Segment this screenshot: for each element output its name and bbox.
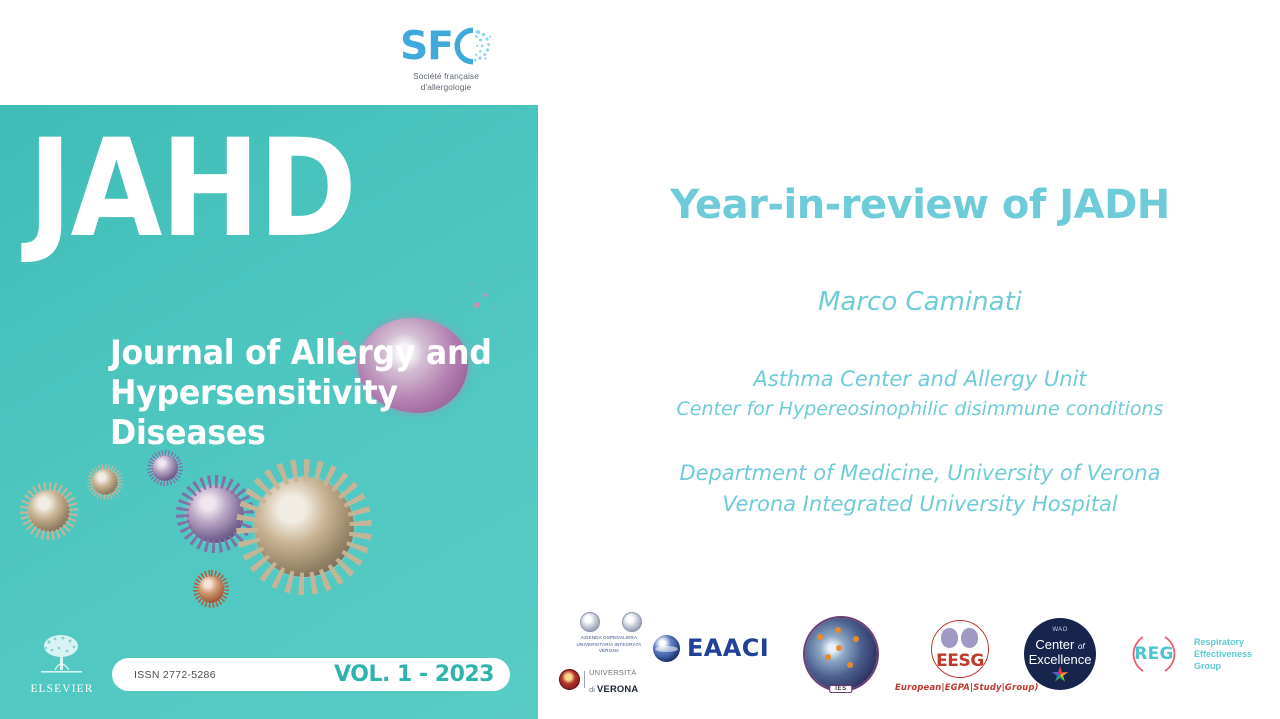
allergen-particle-icon — [254, 477, 354, 577]
sfa-logo-subtitle: Société française d'allergologie — [386, 71, 506, 92]
eesg-cell-icon — [961, 628, 978, 648]
univr-line1: UNIVERSITÀ — [589, 668, 637, 677]
journal-cover-image: JAHD Journal of Allergy and Hypersensiti… — [0, 105, 538, 719]
issn-text: ISSN 2772-5286 — [134, 669, 216, 681]
allergen-particle-icon — [152, 455, 178, 481]
aoui-crest-icon — [580, 612, 600, 632]
affiliation-secondary: Department of Medicine, University of Ve… — [560, 458, 1280, 520]
reg-caption-line2: Effectiveness — [1194, 648, 1252, 660]
journal-full-title: Journal of Allergy and Hypersensitivity … — [110, 333, 501, 453]
logo-eesg: EESG European|EGPA|Study|Group) — [895, 620, 1025, 692]
reg-bracket-icon: REG — [1123, 634, 1185, 674]
sfa-letters: SF — [400, 27, 453, 66]
logo-aoui-verona: AZIENDA OSPEDALIERA UNIVERSITARIA INTEGR… — [555, 612, 663, 697]
elsevier-wordmark: ELSEVIER — [30, 683, 94, 695]
aoui-label-line2: UNIVERSITARIA INTEGRATA — [555, 642, 663, 649]
divider — [584, 671, 585, 688]
journal-title-line1: Journal of Allergy and — [110, 333, 501, 373]
eesg-emblem-icon: EESG — [931, 620, 989, 678]
ies-granule-icon — [836, 645, 842, 651]
ies-granule-icon — [847, 662, 853, 668]
allergen-particle-icon — [198, 575, 224, 603]
presentation-title: Year-in-review of JADH — [560, 182, 1280, 228]
ies-eosinophil-icon: IES — [805, 618, 877, 690]
allergen-particle-icon — [186, 485, 244, 543]
speaker-name: Marco Caminati — [560, 287, 1280, 317]
aoui-label-line1: AZIENDA OSPEDALIERA — [555, 635, 663, 642]
wao-disc-icon: WAO Center of Excellence — [1024, 618, 1096, 690]
aoui-crest-icons — [555, 612, 663, 632]
aoui-label: AZIENDA OSPEDALIERA UNIVERSITARIA INTEGR… — [555, 635, 663, 655]
sfa-logo-mark: SF — [386, 24, 506, 68]
ies-wordmark: IES — [829, 685, 852, 693]
logo-reg: REG Respiratory Effectiveness Group — [1123, 634, 1280, 674]
elsevier-logo: ELSEVIER — [30, 632, 94, 695]
reg-caption-line1: Respiratory — [1194, 636, 1252, 648]
partner-logo-strip: AZIENDA OSPEDALIERA UNIVERSITARIA INTEGR… — [555, 612, 1280, 712]
univr-wordmark: UNIVERSITÀ di VERONA — [589, 662, 638, 697]
aoui-label-line3: VERONA — [555, 648, 663, 655]
logo-ies: IES — [795, 618, 887, 690]
reg-caption-line3: Group — [1194, 660, 1252, 672]
univr-line2-small: di — [589, 685, 595, 694]
eaaci-globe-icon — [653, 635, 680, 662]
logo-wao-center-of-excellence: WAO Center of Excellence — [1010, 618, 1110, 690]
ies-granule-icon — [853, 636, 859, 642]
journal-abbrev-title: JAHD — [28, 127, 380, 251]
logo-eaaci: EAACI — [653, 634, 788, 662]
affiliation-line: Center for Hypereosinophilic disimmune c… — [560, 395, 1280, 423]
sfa-subtitle-line1: Société française — [386, 71, 506, 82]
journal-title-line2: Hypersensitivity Diseases — [110, 373, 501, 453]
eesg-cell-icons — [941, 628, 978, 648]
allergen-particle-icon — [28, 490, 70, 532]
wao-star-icon — [1052, 666, 1069, 683]
sfa-subtitle-line2: d'allergologie — [386, 82, 506, 93]
issn-volume-pill: ISSN 2772-5286 VOL. 1 - 2023 — [112, 658, 510, 691]
ies-granule-icon — [817, 634, 823, 640]
eesg-caption: European|EGPA|Study|Group) — [895, 682, 1025, 692]
affiliation-line: Verona Integrated University Hospital — [560, 489, 1280, 520]
affiliation-line: Department of Medicine, University of Ve… — [560, 458, 1280, 489]
sfa-society-logo: SF Société fran — [386, 24, 506, 96]
eaaci-wordmark: EAACI — [687, 634, 769, 662]
affiliation-line: Asthma Center and Allergy Unit — [560, 364, 1280, 395]
univr-line2-bold: VERONA — [597, 683, 638, 694]
wao-line2: Excellence — [1024, 652, 1096, 667]
aoui-crest-icon — [622, 612, 642, 632]
eesg-cell-icon — [941, 628, 958, 648]
logo-universita-verona: UNIVERSITÀ di VERONA — [555, 662, 663, 697]
univr-seal-icon — [559, 669, 580, 690]
reg-caption: Respiratory Effectiveness Group — [1194, 636, 1252, 672]
volume-text: VOL. 1 - 2023 — [334, 662, 494, 687]
ies-granule-icon — [825, 654, 831, 660]
affiliation-primary: Asthma Center and Allergy Unit Center fo… — [560, 364, 1280, 423]
wao-top-label: WAO — [1024, 627, 1096, 633]
wao-line1: Center of — [1024, 637, 1096, 652]
sfa-dot-circle-icon — [454, 27, 492, 65]
elsevier-tree-icon — [35, 632, 89, 676]
eesg-wordmark: EESG — [932, 651, 988, 671]
ies-granule-icon — [835, 627, 841, 633]
reg-wordmark: REG — [1134, 644, 1174, 664]
presentation-slide: SF Société fran — [0, 0, 1280, 719]
allergen-particle-icon — [92, 469, 118, 495]
